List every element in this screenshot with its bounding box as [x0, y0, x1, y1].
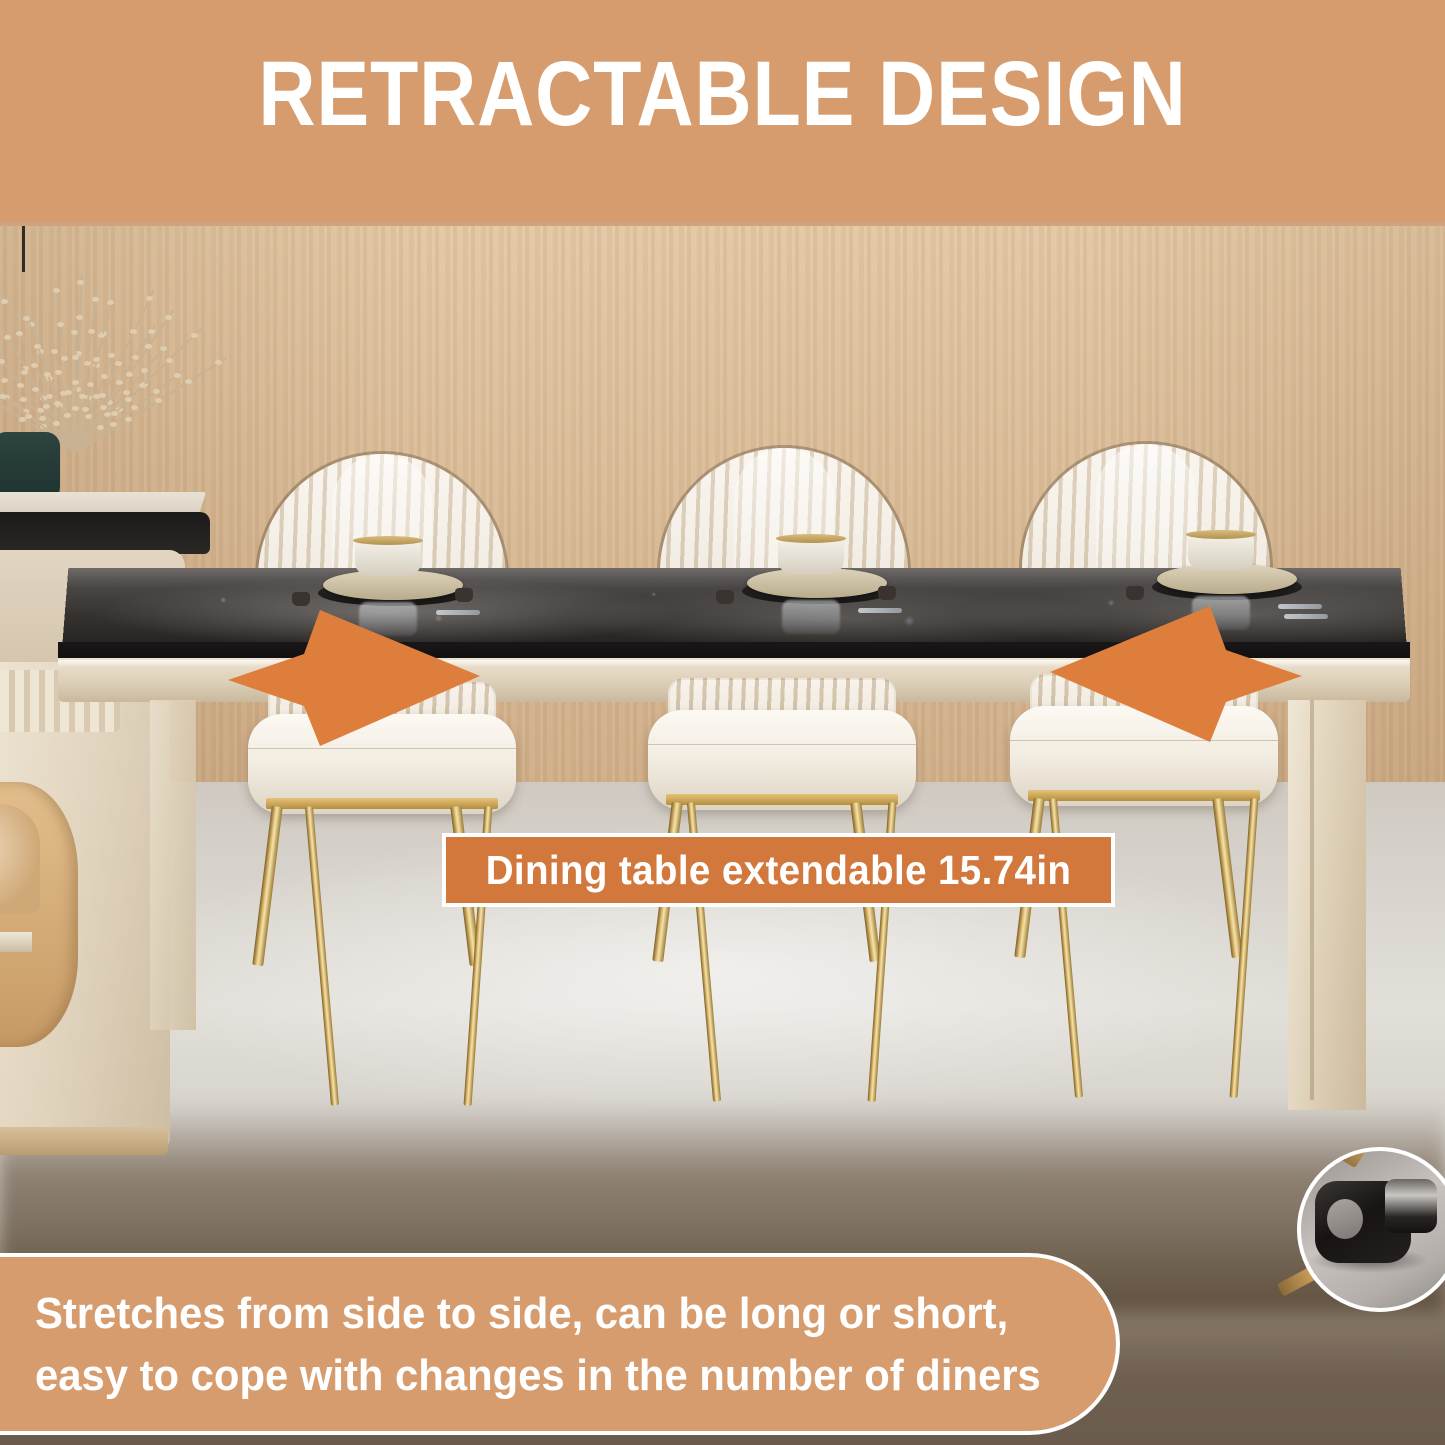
bottom-caption-panel: Stretches from side to side, can be long… — [0, 1253, 1120, 1435]
extendable-callout-text: Dining table extendable 15.74in — [486, 847, 1072, 894]
twig-bud — [31, 363, 38, 368]
twig-bud — [93, 357, 100, 362]
twig-bud — [139, 383, 146, 388]
twig-bud — [93, 394, 100, 399]
page-title: RETRACTABLE DESIGN — [101, 48, 1344, 140]
cup-gold-rim — [776, 534, 846, 543]
chair-gold-band — [1028, 790, 1260, 801]
twig-bud — [1, 378, 8, 383]
twig-bud — [110, 422, 117, 427]
twig-bud — [123, 390, 130, 395]
twig-bud — [174, 373, 181, 378]
caster-hole — [1327, 1199, 1363, 1239]
chair-seat-seam — [648, 744, 916, 745]
cutlery — [858, 608, 902, 613]
cup-reflection — [782, 600, 840, 634]
chair-gold-band — [666, 794, 898, 805]
coffee-cup — [355, 540, 421, 576]
twig-bud — [34, 344, 41, 349]
twig-bud — [54, 401, 61, 406]
twig-bud — [92, 297, 99, 302]
twig-bud — [0, 394, 6, 399]
twig-bud — [155, 398, 162, 403]
chair-gold-band — [266, 798, 498, 809]
twig-bud — [71, 330, 78, 335]
header-banner: RETRACTABLE DESIGN — [0, 0, 1445, 222]
twig-bud — [99, 393, 106, 398]
coffee-cup — [778, 538, 844, 574]
twig-bud — [61, 356, 68, 361]
twig-bud — [107, 300, 114, 305]
twig-bud — [72, 406, 79, 411]
table-accessory — [878, 586, 896, 600]
twig-bud — [148, 329, 155, 334]
twig-bud — [125, 417, 132, 422]
twig-bud — [16, 331, 23, 336]
twig-bud — [145, 344, 152, 349]
header-divider — [0, 222, 1445, 226]
coffee-cup — [1188, 534, 1254, 570]
dried-flower-twigs — [0, 257, 190, 452]
twig-bud — [165, 315, 172, 320]
twig-bud — [146, 296, 153, 301]
product-marketing-image: RETRACTABLE DESIGN — [0, 0, 1445, 1445]
twig-bud — [132, 355, 139, 360]
twig-bud — [43, 404, 50, 409]
twig-bud — [53, 288, 60, 293]
twig-bud — [116, 380, 123, 385]
twig-bud — [115, 361, 122, 366]
twig-bud — [77, 280, 84, 285]
twig-bud — [125, 397, 132, 402]
twig-bud — [131, 405, 138, 410]
cabinet-arch-shelf — [0, 932, 32, 952]
cup-gold-rim — [1186, 530, 1256, 539]
twig-bud — [32, 387, 39, 392]
table-leg-left — [150, 700, 196, 1030]
twig-bud — [57, 322, 64, 327]
twig-bud — [108, 353, 115, 358]
cabinet-base-plinth — [0, 1127, 168, 1155]
cabinet-arch-opening — [0, 782, 78, 1047]
twig-bud — [87, 382, 94, 387]
twig-bud — [53, 421, 60, 426]
cabinet-top — [0, 512, 210, 554]
caption-line-2: easy to cope with changes in the number … — [35, 1345, 1062, 1407]
table-leg-groove — [1310, 700, 1314, 1100]
twig-bud — [88, 329, 95, 334]
caster-roller — [1385, 1179, 1437, 1233]
twig-bud — [76, 315, 83, 320]
extendable-callout-label: Dining table extendable 15.74in — [442, 833, 1115, 907]
twig-bud — [153, 389, 160, 394]
twig-bud — [98, 333, 105, 338]
cup-gold-rim — [353, 536, 423, 545]
twig-bud — [72, 355, 79, 360]
extend-arrow-right — [228, 598, 488, 758]
twig-bud — [0, 359, 5, 364]
twig-bud — [101, 374, 108, 379]
table-accessory — [716, 590, 734, 604]
twig-bud — [64, 413, 71, 418]
extend-arrow-left — [1042, 594, 1302, 754]
table-leg-right — [1288, 700, 1366, 1110]
twig-bud — [84, 361, 91, 366]
twig-bud — [111, 411, 118, 416]
twig-bud — [130, 329, 137, 334]
cabinet-arch-interior — [0, 804, 40, 914]
twig — [75, 324, 156, 452]
twig-bud — [141, 368, 148, 373]
twig-bud — [51, 349, 58, 354]
twig-bud — [55, 370, 62, 375]
twig-bud — [60, 391, 67, 396]
twig-bud — [82, 407, 89, 412]
twig-bud — [1, 299, 8, 304]
twig-bud — [166, 358, 173, 363]
caption-line-1: Stretches from side to side, can be long… — [35, 1283, 1062, 1345]
